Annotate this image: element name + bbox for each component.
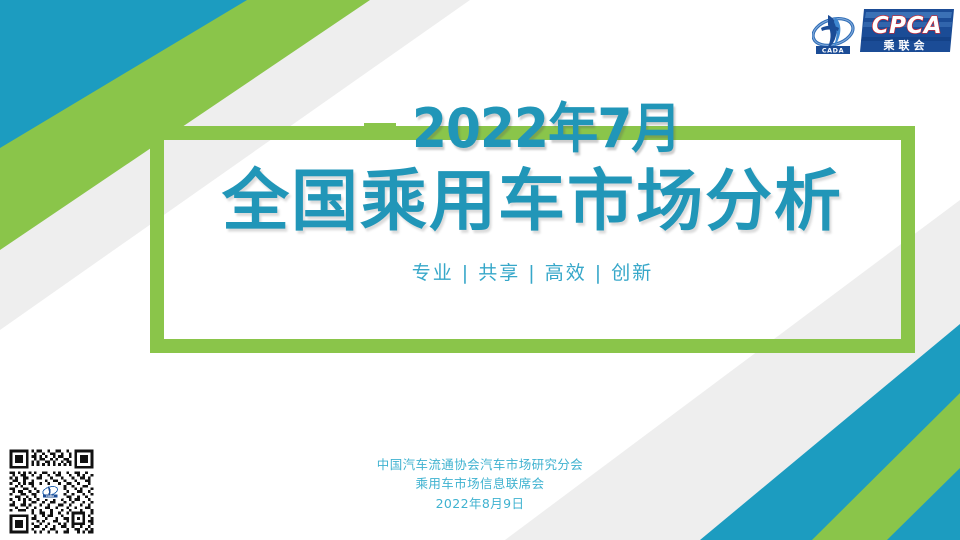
title-block: 2022年7月 全国乘用车市场分析 专业 | 共享 | 高效 | 创新 (150, 126, 915, 353)
title-subtitle: 专业 | 共享 | 高效 | 创新 (412, 258, 653, 285)
presentation-title-slide: 2022年7月 全国乘用车市场分析 专业 | 共享 | 高效 | 创新 中国汽车… (0, 0, 960, 540)
qr-code[interactable]: CADA (6, 447, 97, 536)
page-title: 全国乘用车市场分析 (222, 166, 843, 236)
green-dash-accent (364, 123, 396, 140)
year-row: 2022年7月 (364, 102, 701, 156)
qr-center-logo: CADA (39, 485, 63, 499)
cada-emblem-text: CADA (822, 47, 844, 55)
svg-text:CADA: CADA (46, 494, 54, 498)
footer-line-committee: 乘用车市场信息联席会 (0, 474, 960, 493)
year-month-title: 2022年7月 (412, 102, 681, 156)
cada-emblem-icon: CADA (812, 14, 856, 55)
cpca-logo: CADA CPCA 乘联会 (812, 6, 954, 58)
footer-line-date: 2022年8月9日 (0, 494, 960, 513)
cpca-brand-latin: CPCA (872, 13, 942, 39)
footer-credits: 中国汽车流通协会汽车市场研究分会 乘用车市场信息联席会 2022年8月9日 (0, 455, 960, 513)
cpca-banner: CPCA 乘联会 (860, 9, 954, 52)
cpca-brand-chinese: 乘联会 (883, 38, 929, 52)
footer-line-organization: 中国汽车流通协会汽车市场研究分会 (0, 455, 960, 474)
